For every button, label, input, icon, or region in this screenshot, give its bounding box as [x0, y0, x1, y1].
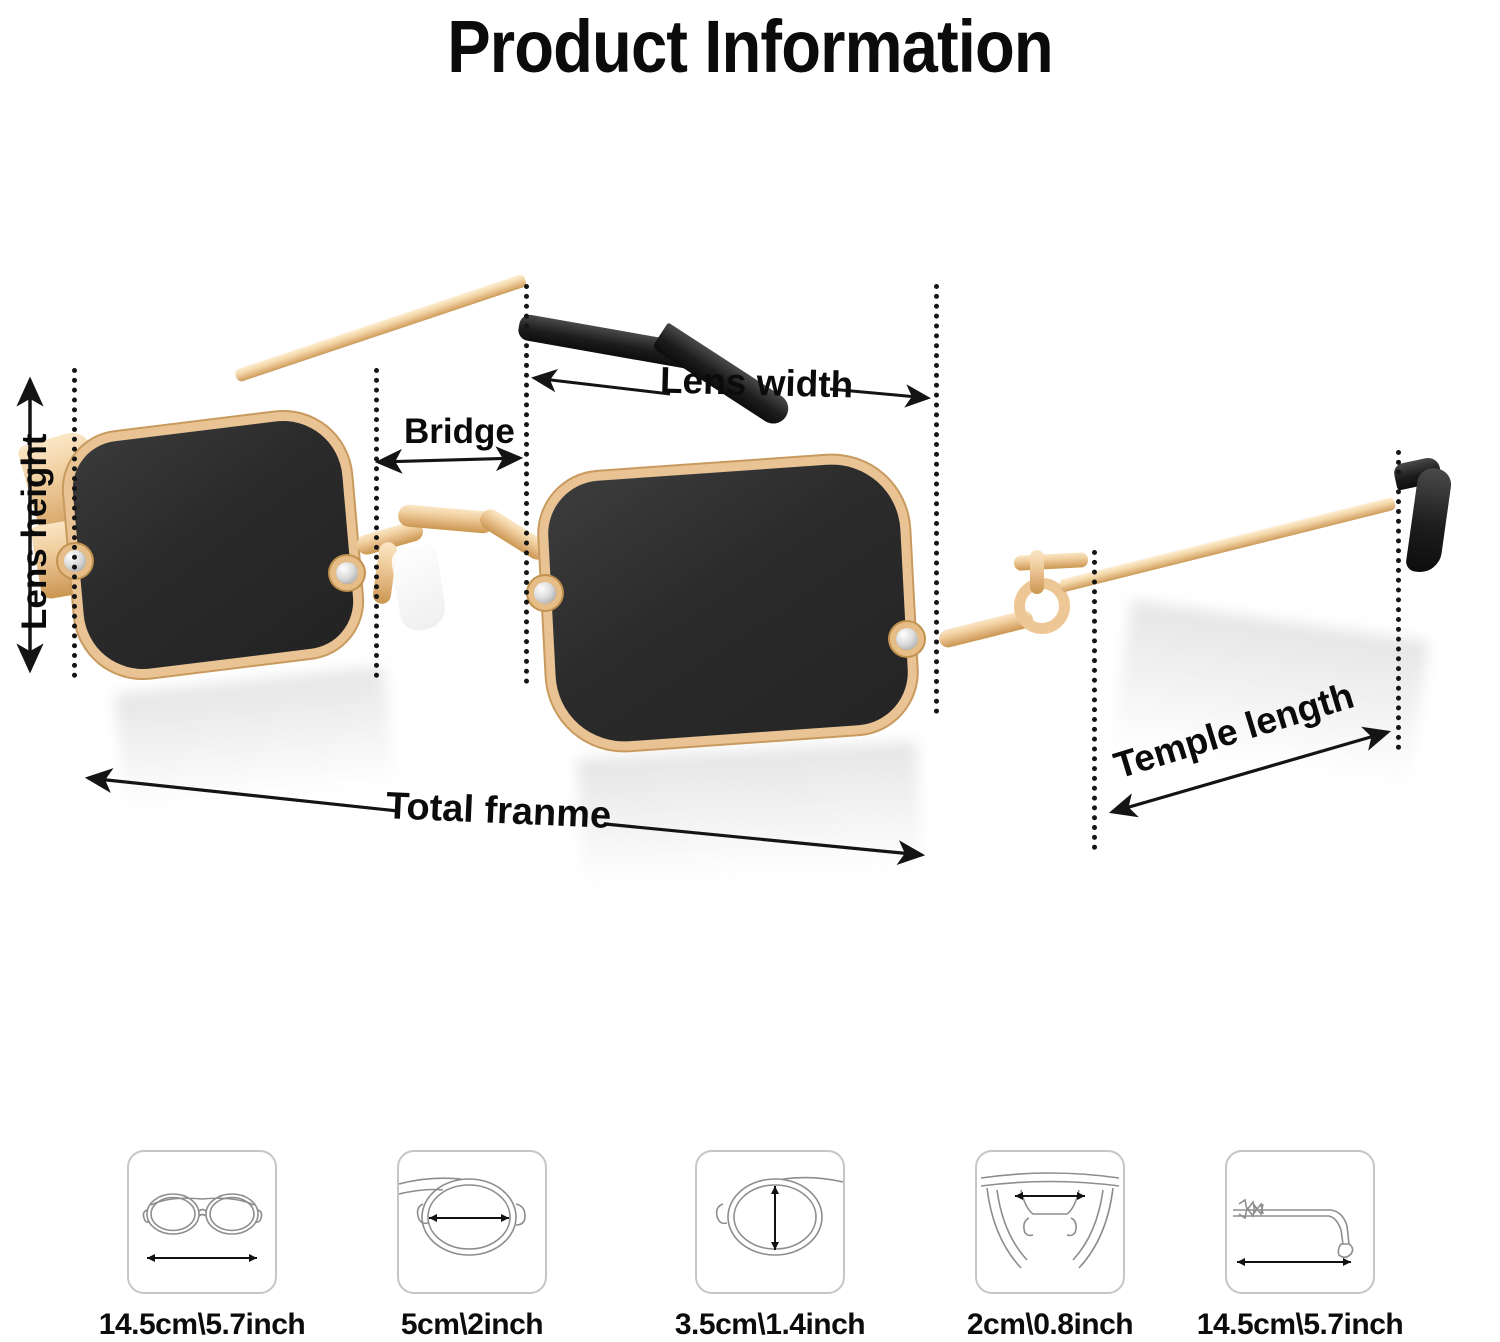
dimension-arrows	[0, 250, 1500, 950]
arrow-bridge	[378, 458, 520, 462]
spec-icon-box-total-frame	[127, 1150, 277, 1294]
specifications-row: 14.5cm\5.7inch	[0, 1150, 1500, 1342]
spec-label-temple-length: 14.5cm\5.7inch	[1150, 1308, 1450, 1342]
arrow-total-frame-left	[88, 778, 398, 811]
spec-label-total-frame: 14.5cm\5.7inch	[52, 1308, 352, 1342]
spec-item-lens-height: 3.5cm\1.4inch	[620, 1150, 920, 1342]
single-lens-vertical-icon	[697, 1152, 843, 1292]
temple-arm-icon	[1227, 1152, 1373, 1292]
product-diagram: Lens height Bridge Lens width Total fran…	[0, 250, 1500, 950]
product-information-page: Product Information	[0, 0, 1500, 1342]
arrow-lens-width-left	[534, 378, 670, 394]
label-lens-height: Lens height	[15, 460, 55, 630]
spec-item-lens-width: 5cm\2inch	[322, 1150, 622, 1342]
spec-icon-box-temple-length	[1225, 1150, 1375, 1294]
label-bridge: Bridge	[404, 412, 515, 452]
full-glasses-front-icon	[129, 1152, 275, 1292]
spec-icon-box-lens-width	[397, 1150, 547, 1294]
spec-item-total-frame: 14.5cm\5.7inch	[52, 1150, 352, 1342]
spec-icon-box-bridge	[975, 1150, 1125, 1294]
label-lens-width: Lens width	[659, 359, 853, 406]
spec-icon-box-lens-height	[695, 1150, 845, 1294]
spec-label-lens-width: 5cm\2inch	[322, 1308, 622, 1342]
bridge-icon	[977, 1152, 1123, 1292]
single-lens-horizontal-icon	[399, 1152, 545, 1292]
spec-label-lens-height: 3.5cm\1.4inch	[620, 1308, 920, 1342]
arrow-total-frame-right	[605, 824, 922, 855]
page-title: Product Information	[90, 4, 1410, 89]
spec-item-temple-length: 14.5cm\5.7inch	[1150, 1150, 1450, 1342]
